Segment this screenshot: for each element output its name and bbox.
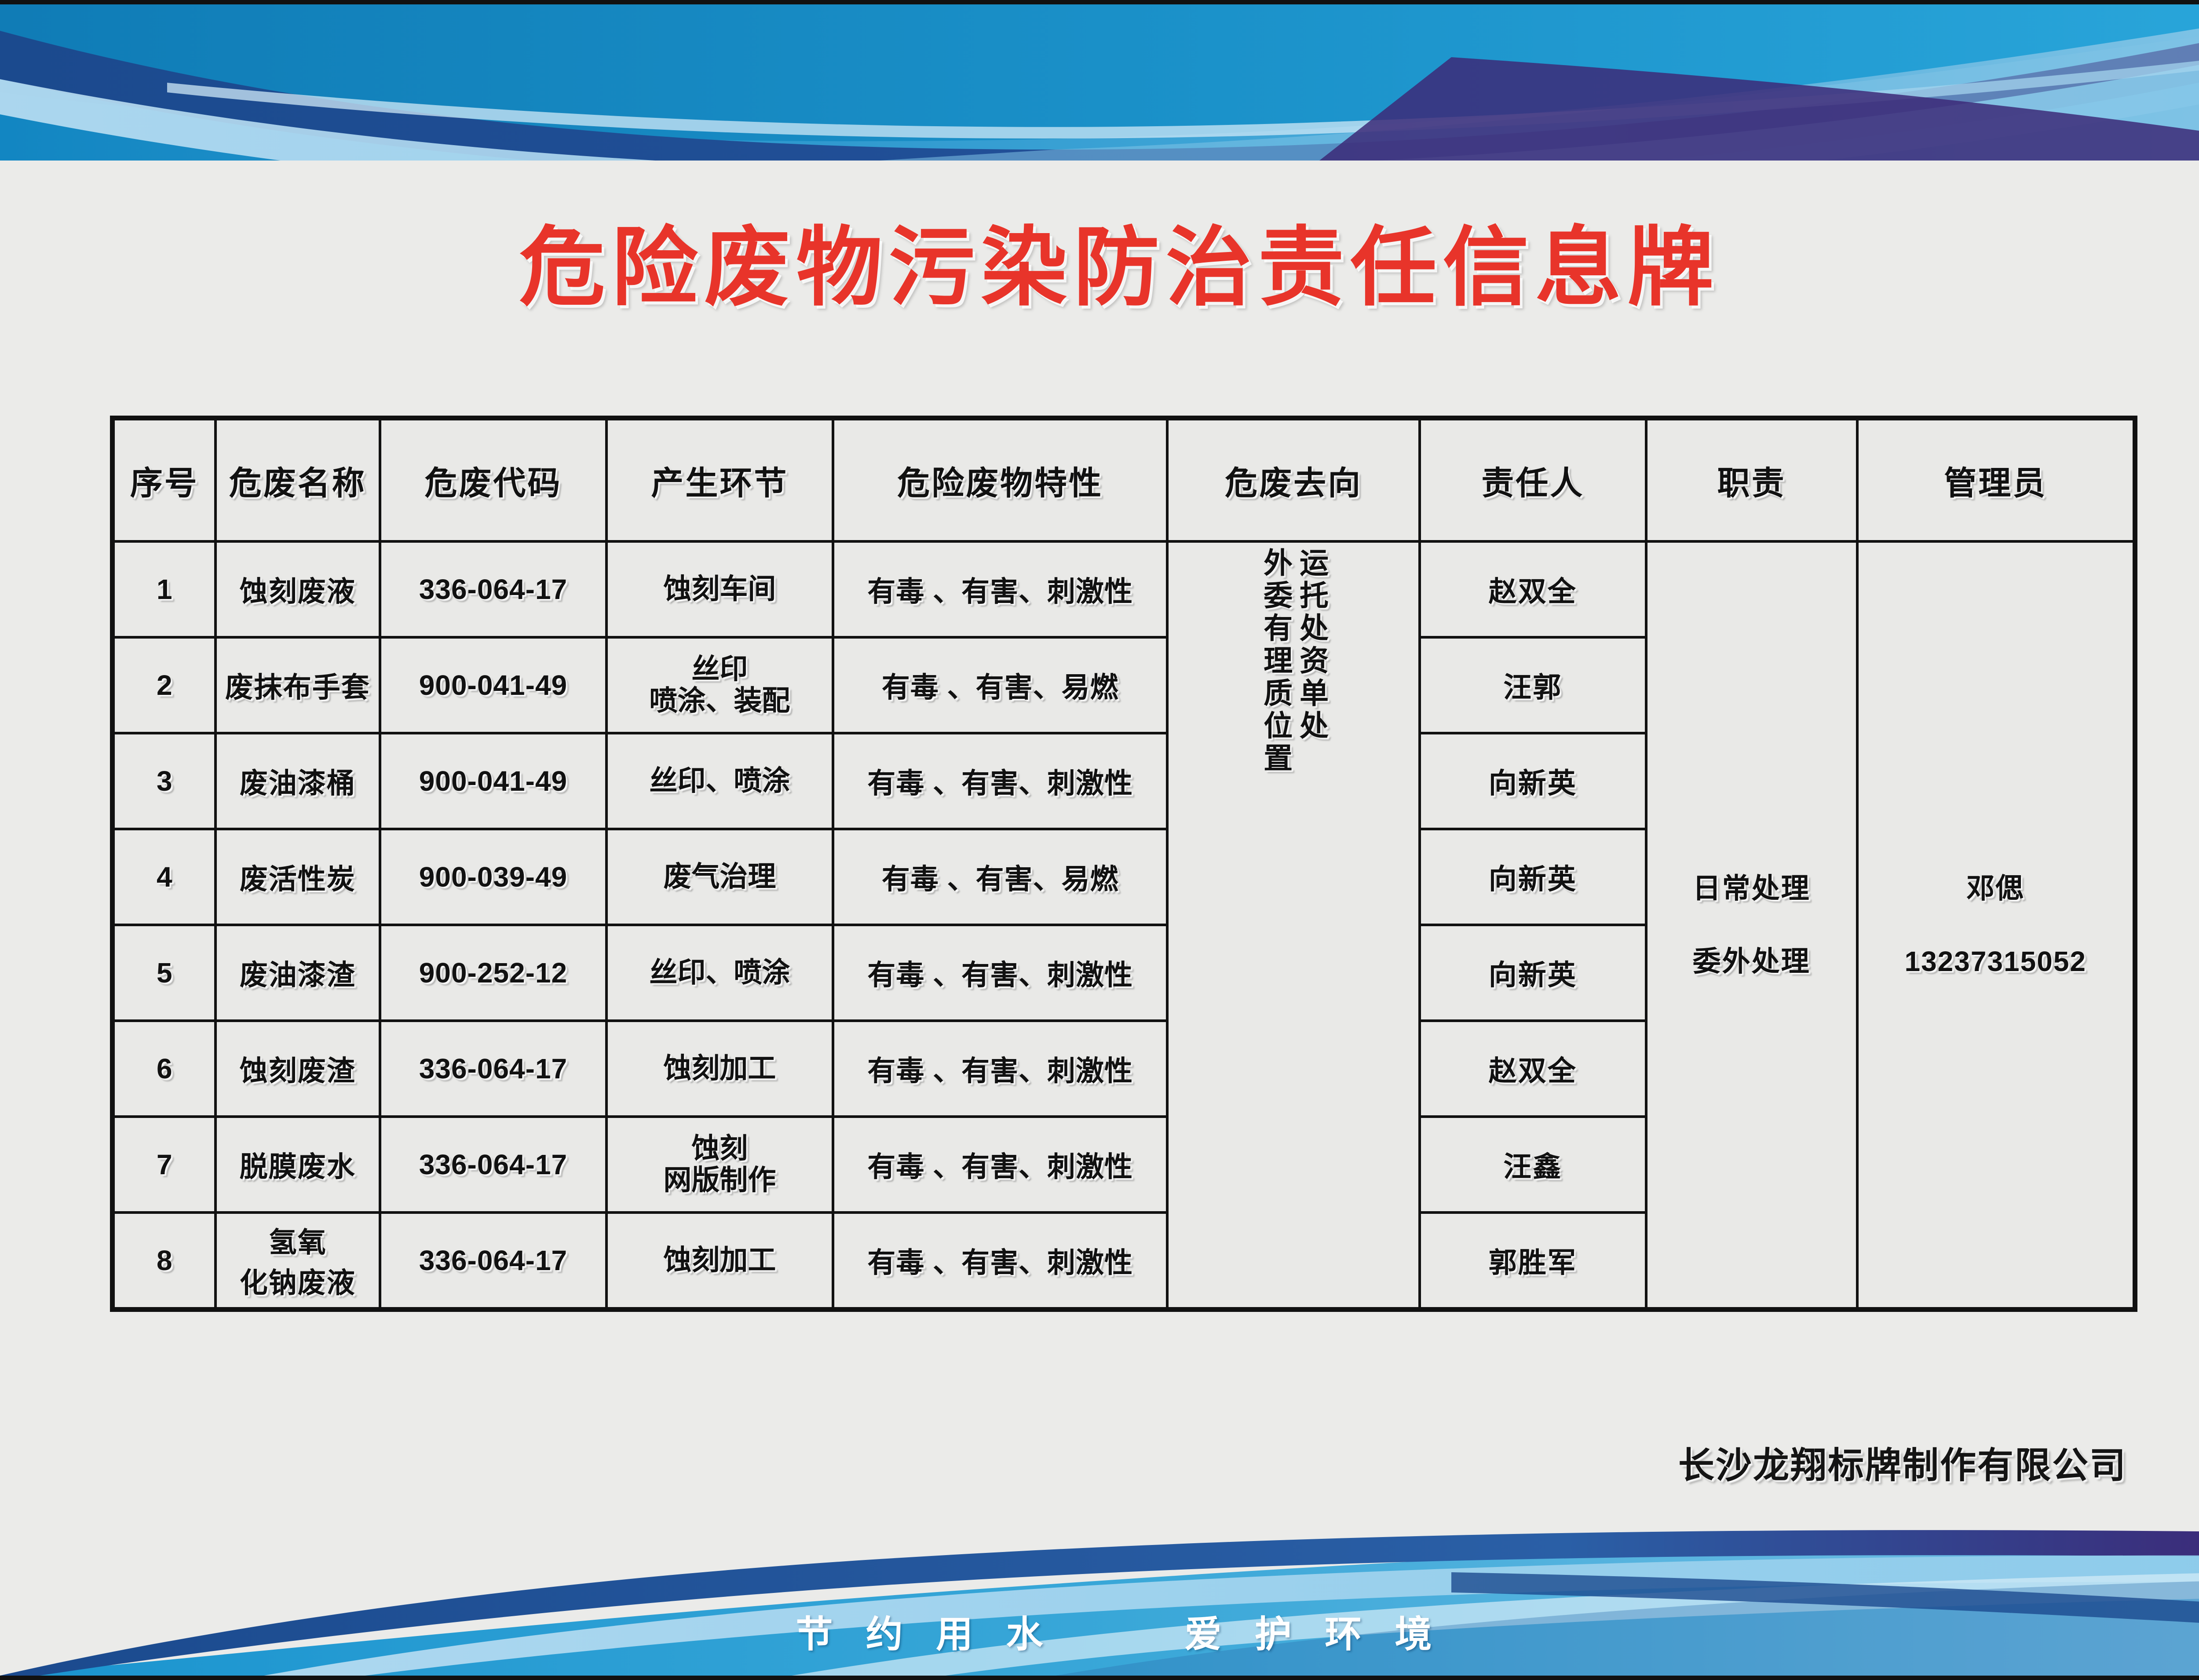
stage-line: 蚀刻 — [610, 1133, 830, 1165]
cell-waste-code: 336-064-17 — [380, 541, 606, 637]
stage-text: 废气治理 — [610, 861, 830, 893]
cell-duty: 日常处理委外处理 — [1646, 541, 1857, 1310]
cell-waste-code: 900-041-49 — [380, 733, 606, 829]
cell-waste-code: 900-252-12 — [380, 925, 606, 1021]
waste-name-line: 废油漆渣 — [219, 953, 377, 993]
cell-stage: 蚀刻车间 — [606, 541, 833, 637]
table-row: 1蚀刻废液336-064-17蚀刻车间有毒 、有害、刺激性运托处资单处外委有理质… — [113, 541, 2135, 637]
stage-line: 丝印、喷涂 — [610, 957, 830, 989]
top-decorative-banner — [0, 4, 2199, 161]
destination-column-right: 运托处资单处 — [1294, 548, 1329, 743]
cell-properties: 有毒 、有害、刺激性 — [833, 1021, 1168, 1117]
cell-destination: 运托处资单处外委有理质位置 — [1167, 541, 1419, 1310]
information-board: 危险废物污染防治责任信息牌 序号 危废名称 危废代码 产生环节 — [0, 0, 2199, 1680]
waste-name-text: 废油漆桶 — [219, 761, 377, 801]
stage-line: 网版制作 — [610, 1165, 830, 1196]
cell-waste-name: 废抹布手套 — [216, 637, 380, 733]
stage-text: 丝印喷涂、装配 — [610, 654, 830, 716]
stage-line: 丝印 — [610, 654, 830, 685]
waste-name-text: 废油漆渣 — [219, 953, 377, 993]
cell-properties: 有毒 、有害、易燃 — [833, 637, 1168, 733]
cell-waste-code: 336-064-17 — [380, 1213, 606, 1310]
cell-index: 5 — [113, 925, 216, 1021]
cell-stage: 蚀刻网版制作 — [606, 1117, 833, 1213]
waste-name-line: 废油漆桶 — [219, 761, 377, 801]
stage-text: 蚀刻加工 — [610, 1245, 830, 1276]
cell-stage: 丝印、喷涂 — [606, 925, 833, 1021]
cell-responsible-person: 向新英 — [1420, 925, 1646, 1021]
cell-index: 3 — [113, 733, 216, 829]
stage-text: 丝印、喷涂 — [610, 957, 830, 989]
cell-responsible-person: 向新英 — [1420, 733, 1646, 829]
header-waste-name: 危废名称 — [216, 418, 380, 542]
duty-line-2: 委外处理 — [1649, 925, 1854, 998]
cell-responsible-person: 汪郭 — [1420, 637, 1646, 733]
bottom-decorative-banner: 节 约 用 水 爱 护 环 境 — [0, 1524, 2199, 1676]
cell-stage: 蚀刻加工 — [606, 1213, 833, 1310]
company-name: 长沙龙翔标牌制作有限公司 — [1678, 1436, 2127, 1488]
waste-name-text: 氢氧化钠废液 — [219, 1220, 377, 1301]
destination-vertical-text: 运托处资单处外委有理质位置 — [1170, 543, 1416, 1307]
manager-phone: 13237315052 — [1860, 925, 2131, 998]
header-manager: 管理员 — [1857, 418, 2135, 542]
duty-line-1: 日常处理 — [1649, 852, 1854, 925]
waste-name-line: 化钠废液 — [219, 1260, 377, 1301]
waste-name-line: 废活性炭 — [219, 857, 377, 897]
stage-line: 蚀刻加工 — [610, 1053, 830, 1085]
waste-name-text: 蚀刻废液 — [219, 569, 377, 610]
cell-waste-code: 336-064-17 — [380, 1021, 606, 1117]
stage-text: 蚀刻车间 — [610, 573, 830, 605]
stage-text: 蚀刻网版制作 — [610, 1133, 830, 1196]
cell-waste-name: 蚀刻废渣 — [216, 1021, 380, 1117]
cell-waste-name: 氢氧化钠废液 — [216, 1213, 380, 1310]
waste-name-line: 脱膜废水 — [219, 1144, 377, 1185]
cell-waste-name: 蚀刻废液 — [216, 541, 380, 637]
waste-name-text: 废抹布手套 — [219, 665, 377, 705]
cell-properties: 有毒 、有害、刺激性 — [833, 925, 1168, 1021]
cell-properties: 有毒 、有害、刺激性 — [833, 1117, 1168, 1213]
cell-index: 4 — [113, 829, 216, 925]
cell-properties: 有毒 、有害、刺激性 — [833, 733, 1168, 829]
cell-waste-code: 336-064-17 — [380, 1117, 606, 1213]
stage-line: 蚀刻加工 — [610, 1245, 830, 1276]
waste-name-line: 废抹布手套 — [219, 665, 377, 705]
header-properties: 危险废物特性 — [833, 418, 1168, 542]
header-index: 序号 — [113, 418, 216, 542]
header-destination: 危废去向 — [1167, 418, 1419, 542]
cell-properties: 有毒 、有害、刺激性 — [833, 1213, 1168, 1310]
cell-responsible-person: 向新英 — [1420, 829, 1646, 925]
cell-waste-name: 脱膜废水 — [216, 1117, 380, 1213]
header-responsible: 责任人 — [1420, 418, 1646, 542]
stage-line: 喷涂、装配 — [610, 685, 830, 717]
cell-properties: 有毒 、有害、易燃 — [833, 829, 1168, 925]
cell-stage: 蚀刻加工 — [606, 1021, 833, 1117]
stage-line: 丝印、喷涂 — [610, 765, 830, 797]
manager-name: 邓偲 — [1860, 852, 2131, 925]
header-waste-code: 危废代码 — [380, 418, 606, 542]
hazardous-waste-table-container: 序号 危废名称 危废代码 产生环节 危险废物特性 危废去向 责任人 职责 管理员… — [110, 416, 2137, 1312]
table-header-row: 序号 危废名称 危废代码 产生环节 危险废物特性 危废去向 责任人 职责 管理员 — [113, 418, 2135, 542]
waste-name-line: 蚀刻废液 — [219, 569, 377, 610]
cell-index: 2 — [113, 637, 216, 733]
cell-waste-name: 废油漆桶 — [216, 733, 380, 829]
destination-column-left: 外委有理质位置 — [1258, 548, 1293, 775]
waste-name-line: 氢氧 — [219, 1220, 377, 1260]
cell-waste-code: 900-039-49 — [380, 829, 606, 925]
stage-line: 废气治理 — [610, 861, 830, 893]
cell-responsible-person: 赵双全 — [1420, 1021, 1646, 1117]
cell-stage: 丝印喷涂、装配 — [606, 637, 833, 733]
cell-index: 6 — [113, 1021, 216, 1117]
waste-name-line: 蚀刻废渣 — [219, 1048, 377, 1089]
waste-name-text: 废活性炭 — [219, 857, 377, 897]
table-body: 1蚀刻废液336-064-17蚀刻车间有毒 、有害、刺激性运托处资单处外委有理质… — [113, 541, 2135, 1310]
cell-responsible-person: 郭胜军 — [1420, 1213, 1646, 1310]
stage-line: 蚀刻车间 — [610, 573, 830, 605]
cell-properties: 有毒 、有害、刺激性 — [833, 541, 1168, 637]
cell-stage: 丝印、喷涂 — [606, 733, 833, 829]
cell-index: 7 — [113, 1117, 216, 1213]
stage-text: 丝印、喷涂 — [610, 765, 830, 797]
hazardous-waste-table: 序号 危废名称 危废代码 产生环节 危险废物特性 危废去向 责任人 职责 管理员… — [110, 416, 2137, 1312]
cell-waste-name: 废油漆渣 — [216, 925, 380, 1021]
cell-waste-code: 900-041-49 — [380, 637, 606, 733]
stage-text: 蚀刻加工 — [610, 1053, 830, 1085]
cell-index: 1 — [113, 541, 216, 637]
waste-name-text: 蚀刻废渣 — [219, 1048, 377, 1089]
cell-stage: 废气治理 — [606, 829, 833, 925]
header-stage: 产生环节 — [606, 418, 833, 542]
top-wave-graphic — [0, 4, 2199, 161]
cell-manager: 邓偲13237315052 — [1857, 541, 2135, 1310]
cell-waste-name: 废活性炭 — [216, 829, 380, 925]
cell-responsible-person: 汪鑫 — [1420, 1117, 1646, 1213]
footer-slogan: 节 约 用 水 爱 护 环 境 — [0, 1605, 2199, 1658]
header-duty: 职责 — [1646, 418, 1857, 542]
page-title: 危险废物污染防治责任信息牌 — [0, 198, 2199, 322]
cell-responsible-person: 赵双全 — [1420, 541, 1646, 637]
waste-name-text: 脱膜废水 — [219, 1144, 377, 1185]
cell-index: 8 — [113, 1213, 216, 1310]
